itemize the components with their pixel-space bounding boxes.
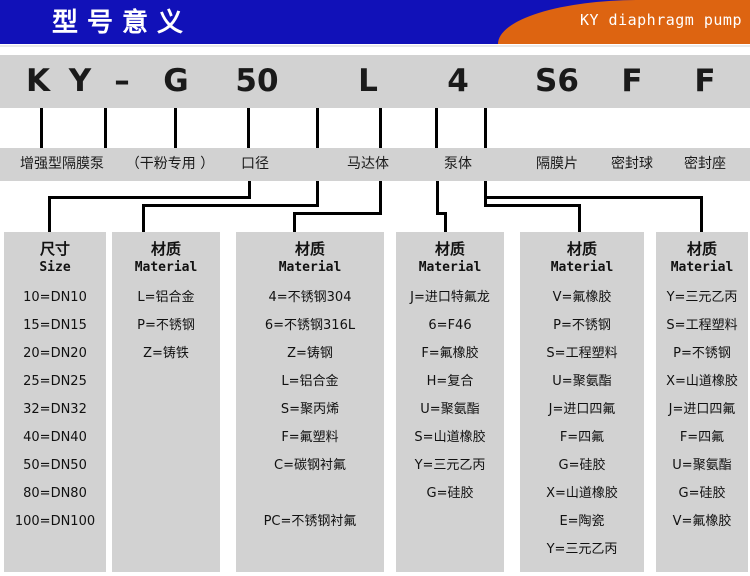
detail-item: E=陶瓷 — [520, 514, 644, 542]
model-code-segment: F — [592, 55, 672, 108]
connector-horizontal — [293, 212, 382, 215]
detail-item: X=山道橡胶 — [656, 374, 748, 402]
detail-item: V=氟橡胶 — [656, 514, 748, 542]
detail-item: PC=不锈钢衬氟 — [236, 514, 384, 542]
connector-vertical — [40, 108, 43, 148]
detail-item-list: Y=三元乙丙S=工程塑料P=不锈钢X=山道橡胶J=进口四氟F=四氟U=聚氨酯G=… — [656, 276, 748, 542]
detail-item: P=不锈钢 — [520, 318, 644, 346]
detail-item: Y=三元乙丙 — [396, 458, 504, 486]
detail-item: U=聚氨酯 — [396, 402, 504, 430]
detail-item: J=进口特氟龙 — [396, 290, 504, 318]
detail-item: F=氟橡胶 — [396, 346, 504, 374]
detail-item-list: V=氟橡胶P=不锈钢S=工程塑料U=聚氨酯J=进口四氟F=四氟G=硅胶X=山道橡… — [520, 276, 644, 570]
connector-vertical — [142, 204, 145, 235]
detail-item: P=不锈钢 — [656, 346, 748, 374]
model-code-segment: 50 — [217, 55, 297, 108]
detail-item: U=聚氨酯 — [656, 458, 748, 486]
connector-vertical — [379, 181, 382, 215]
detail-column-title-cn: 材质 — [295, 240, 325, 258]
detail-item: F=四氟 — [656, 430, 748, 458]
detail-item: G=硅胶 — [656, 486, 748, 514]
model-code-segment: G — [136, 55, 216, 108]
detail-column-title: 材质Material — [396, 232, 504, 276]
model-code-segment: F — [665, 55, 745, 108]
detail-item: 100=DN100 — [4, 514, 106, 542]
detail-column-title: 材质Material — [112, 232, 220, 276]
detail-item: Y=三元乙丙 — [520, 542, 644, 570]
detail-item: 80=DN80 — [4, 486, 106, 514]
connector-vertical — [48, 196, 51, 235]
detail-item: S=聚丙烯 — [236, 402, 384, 430]
header-divider — [0, 45, 750, 47]
detail-column-title-en: Size — [4, 259, 106, 276]
detail-item: L=铝合金 — [236, 374, 384, 402]
detail-item: 10=DN10 — [4, 290, 106, 318]
detail-item: 25=DN25 — [4, 374, 106, 402]
detail-item: U=聚氨酯 — [520, 374, 644, 402]
detail-item: F=四氟 — [520, 430, 644, 458]
detail-item: Z=铸钢 — [236, 346, 384, 374]
detail-item: 6=不锈钢316L — [236, 318, 384, 346]
detail-column-title: 材质Material — [656, 232, 748, 276]
header-subtitle-en: KY diaphragm pump — [580, 11, 742, 29]
detail-item: 6=F46 — [396, 318, 504, 346]
detail-column-title-cn: 材质 — [687, 240, 717, 258]
detail-item: C=碳钢衬氟 — [236, 458, 384, 486]
part-label-band: 增强型隔膜泵（干粉专用 ）口径马达体泵体隔膜片密封球密封座 — [0, 148, 750, 181]
detail-column-title-cn: 材质 — [151, 240, 181, 258]
detail-item: 50=DN50 — [4, 458, 106, 486]
detail-column: 尺寸Size10=DN1015=DN1520=DN2025=DN2532=DN3… — [4, 232, 106, 572]
model-code-segment: S6 — [517, 55, 597, 108]
detail-item: 4=不锈钢304 — [236, 290, 384, 318]
connector-horizontal — [484, 204, 581, 207]
detail-item: X=山道橡胶 — [520, 486, 644, 514]
detail-item: 20=DN20 — [4, 346, 106, 374]
detail-column: 材质MaterialJ=进口特氟龙6=F46F=氟橡胶H=复合U=聚氨酯S=山道… — [396, 232, 504, 572]
model-code-band: KY–G50L4S6FF — [0, 55, 750, 108]
detail-item: G=硅胶 — [396, 486, 504, 514]
detail-item: 32=DN32 — [4, 402, 106, 430]
detail-column-title-en: Material — [396, 259, 504, 276]
connector-horizontal — [48, 196, 251, 199]
detail-column-title: 材质Material — [520, 232, 644, 276]
detail-column-title-cn: 材质 — [435, 240, 465, 258]
connector-vertical — [700, 196, 703, 235]
detail-item: G=硅胶 — [520, 458, 644, 486]
connector-vertical — [484, 108, 487, 148]
detail-item: S=工程塑料 — [656, 318, 748, 346]
detail-item: F=氟塑料 — [236, 430, 384, 458]
model-code-segment: L — [328, 55, 408, 108]
page-header: 型号意义 KY diaphragm pump — [0, 0, 750, 44]
page-title: 型号意义 — [52, 6, 192, 38]
detail-item: 40=DN40 — [4, 430, 106, 458]
detail-item: V=氟橡胶 — [520, 290, 644, 318]
detail-item: S=山道橡胶 — [396, 430, 504, 458]
detail-item: J=进口四氟 — [656, 402, 748, 430]
detail-item: P=不锈钢 — [112, 318, 220, 346]
part-label: 密封座 — [635, 148, 750, 181]
detail-item-list: 4=不锈钢3046=不锈钢316LZ=铸钢L=铝合金S=聚丙烯F=氟塑料C=碳钢… — [236, 276, 384, 542]
connector-vertical — [379, 108, 382, 148]
detail-column: 材质MaterialY=三元乙丙S=工程塑料P=不锈钢X=山道橡胶J=进口四氟F… — [656, 232, 748, 572]
detail-item-list: 10=DN1015=DN1520=DN2025=DN2532=DN3240=DN… — [4, 276, 106, 542]
detail-column-title-en: Material — [112, 259, 220, 276]
detail-item: Z=铸铁 — [112, 346, 220, 374]
connector-horizontal — [484, 196, 703, 199]
connector-vertical — [174, 108, 177, 148]
detail-column-title-en: Material — [520, 259, 644, 276]
connector-vertical — [578, 204, 581, 235]
detail-column: 材质MaterialL=铝合金P=不锈钢Z=铸铁 — [112, 232, 220, 572]
connector-vertical — [436, 181, 439, 215]
detail-item: H=复合 — [396, 374, 504, 402]
model-designation-diagram: 型号意义 KY diaphragm pump KY–G50L4S6FF 增强型隔… — [0, 0, 750, 576]
detail-column: 材质MaterialV=氟橡胶P=不锈钢S=工程塑料U=聚氨酯J=进口四氟F=四… — [520, 232, 644, 572]
detail-item: S=工程塑料 — [520, 346, 644, 374]
detail-column-title: 尺寸Size — [4, 232, 106, 276]
detail-column: 材质Material4=不锈钢3046=不锈钢316LZ=铸钢L=铝合金S=聚丙… — [236, 232, 384, 572]
connector-vertical — [435, 108, 438, 148]
detail-item: 15=DN15 — [4, 318, 106, 346]
connector-vertical — [316, 108, 319, 148]
detail-item-list: L=铝合金P=不锈钢Z=铸铁 — [112, 276, 220, 374]
model-code-segment: 4 — [418, 55, 498, 108]
detail-column-title-en: Material — [236, 259, 384, 276]
connector-vertical — [104, 108, 107, 148]
detail-column-title-cn: 材质 — [567, 240, 597, 258]
detail-item: Y=三元乙丙 — [656, 290, 748, 318]
detail-column-title-en: Material — [656, 259, 748, 276]
detail-item: L=铝合金 — [112, 290, 220, 318]
detail-column-title: 材质Material — [236, 232, 384, 276]
detail-item-list: J=进口特氟龙6=F46F=氟橡胶H=复合U=聚氨酯S=山道橡胶Y=三元乙丙G=… — [396, 276, 504, 514]
connector-vertical — [247, 108, 250, 148]
detail-item: J=进口四氟 — [520, 402, 644, 430]
detail-column-title-cn: 尺寸 — [40, 240, 70, 258]
connector-horizontal — [142, 204, 319, 207]
